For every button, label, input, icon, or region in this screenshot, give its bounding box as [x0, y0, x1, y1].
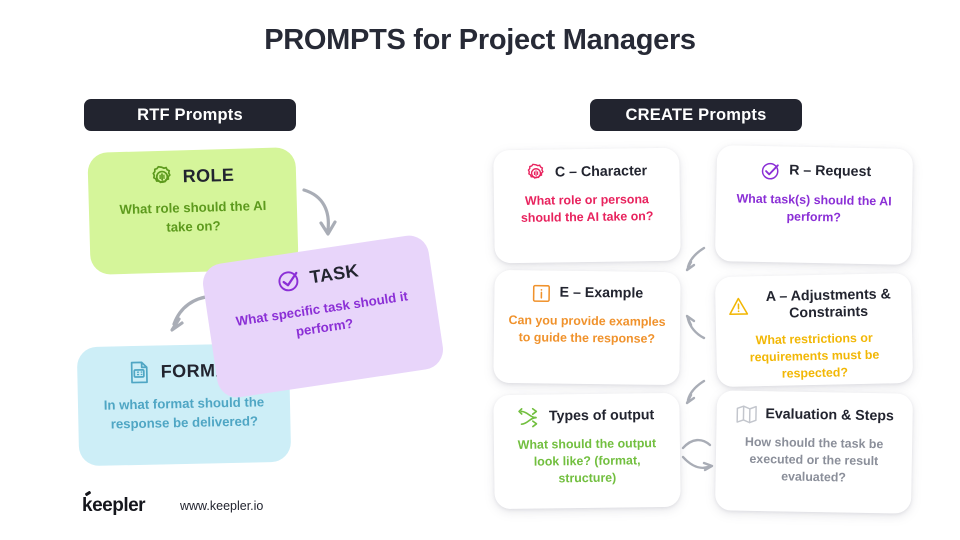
card-task-title: TASK: [308, 260, 360, 288]
card-adjustments-title: A – Adjustments & Constraints: [757, 286, 900, 323]
card-evaluation-header: Evaluation & Steps: [735, 404, 894, 428]
document-icon: [128, 360, 153, 385]
card-task-body: What specific task should it perform?: [224, 286, 423, 352]
card-adjustments-body: What restrictions or requirements must b…: [728, 329, 901, 384]
branching-arrows-icon: [519, 408, 541, 428]
gear-icon: [149, 165, 174, 190]
section-header-rtf: RTF Prompts: [84, 99, 296, 131]
card-evaluation-title: Evaluation & Steps: [765, 406, 894, 425]
card-character-title: C – Character: [555, 163, 647, 181]
arrow-request-to-example: [682, 312, 712, 344]
card-evaluation[interactable]: Evaluation & Steps How should the task b…: [715, 390, 913, 513]
footer-url[interactable]: www.keepler.io: [180, 499, 263, 513]
keepler-logo-accent: k: [82, 495, 92, 516]
card-role-title: ROLE: [182, 164, 234, 186]
card-example-header: E – Example: [531, 283, 643, 304]
card-request-body: What task(s) should the AI perform?: [728, 190, 901, 228]
card-request[interactable]: R – Request What task(s) should the AI p…: [715, 145, 913, 265]
arrow-types-to-evaluation: [680, 452, 716, 474]
card-example-title: E – Example: [559, 285, 643, 303]
card-evaluation-body: How should the task be executed or the r…: [727, 434, 900, 488]
section-header-create: CREATE Prompts: [590, 99, 802, 131]
infographic-canvas: PROMPTS for Project Managers RTF Prompts…: [0, 0, 960, 540]
card-adjustments-header: A – Adjustments & Constraints: [727, 286, 900, 324]
gear-icon: [526, 163, 547, 184]
card-role-header: ROLE: [149, 163, 234, 189]
card-request-header: R – Request: [758, 159, 871, 184]
check-circle-icon: [758, 159, 781, 182]
card-character-body: What role or persona should the AI take …: [506, 191, 668, 227]
card-types-of-output[interactable]: Types of output What should the output l…: [493, 393, 680, 509]
card-format-body: In what format should the response be de…: [94, 393, 275, 434]
card-types-of-output-title: Types of output: [549, 408, 655, 426]
card-role-body: What role should the AI take on?: [105, 197, 282, 239]
card-types-of-output-body: What should the output look like? (forma…: [506, 435, 669, 488]
card-task-header: TASK: [273, 257, 360, 295]
keepler-logo-text: eepler: [92, 495, 145, 516]
section-header-rtf-label: RTF Prompts: [137, 106, 243, 125]
info-box-icon: [531, 283, 551, 303]
card-types-of-output-header: Types of output: [519, 406, 655, 428]
map-icon: [735, 404, 757, 425]
arrow-example-to-adjustments: [682, 378, 712, 410]
arrow-adjustments-to-types: [680, 436, 714, 454]
card-request-title: R – Request: [789, 163, 871, 182]
card-adjustments[interactable]: A – Adjustments & Constraints What restr…: [715, 273, 913, 387]
arrow-role-to-task: [298, 186, 346, 244]
page-title: PROMPTS for Project Managers: [0, 24, 960, 57]
section-header-create-label: CREATE Prompts: [626, 106, 767, 125]
warning-triangle-icon: [727, 295, 749, 317]
check-circle-icon: [273, 266, 303, 296]
card-character[interactable]: C – Character What role or persona shoul…: [493, 148, 681, 264]
keepler-logo: keepler: [82, 495, 145, 517]
card-example[interactable]: E – Example Can you provide examples to …: [493, 270, 680, 385]
card-example-body: Can you provide examples to guide the re…: [506, 312, 668, 348]
card-character-header: C – Character: [526, 161, 648, 184]
arrow-character-to-request: [682, 245, 712, 277]
